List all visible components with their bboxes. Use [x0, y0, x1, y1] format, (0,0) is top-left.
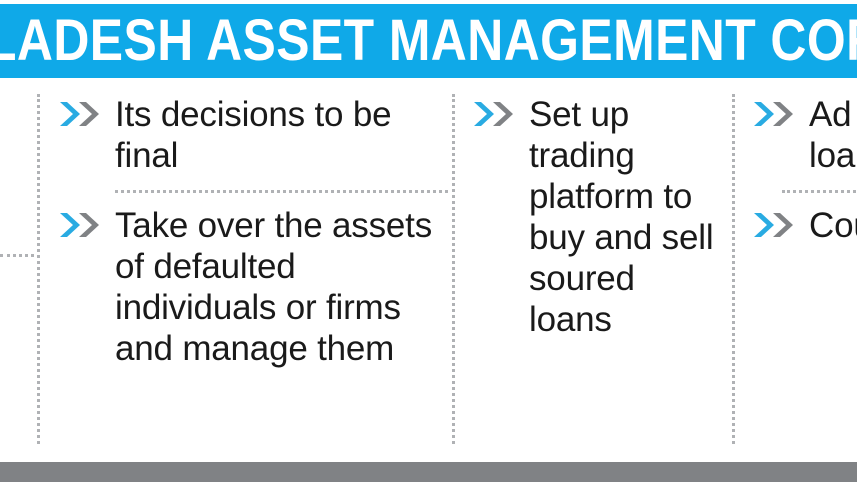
bullet-separator [782, 190, 857, 193]
column-divider-left [37, 94, 40, 444]
bullet-text: Set up trading platform to buy and sell … [529, 94, 722, 340]
infographic-graphic: LADESH ASSET MANAGEMENT CORPOR Its decis… [0, 0, 857, 482]
bullet-text: Cou bo [809, 205, 857, 246]
bullet-column-2: Set up trading platform to buy and sell … [472, 94, 722, 340]
column-divider-2-3 [732, 94, 735, 444]
bullet-item: Set up trading platform to buy and sell … [472, 94, 722, 340]
bullet-column-3: Ad to rec loa Cou bo [752, 94, 857, 246]
double-chevron-right-icon [58, 212, 104, 243]
double-chevron-right-icon [752, 101, 798, 132]
bullet-item: Take over the assets of defaulted indivi… [58, 205, 448, 369]
bullet-text: Ad to rec loa [809, 94, 857, 176]
bullet-text: Its decisions to be final [115, 94, 448, 176]
bullet-separator [115, 190, 448, 193]
bullet-text: Take over the assets of defaulted indivi… [115, 205, 448, 369]
double-chevron-right-icon [58, 101, 104, 132]
double-chevron-right-icon [472, 101, 518, 132]
page-title: LADESH ASSET MANAGEMENT CORPOR [0, 12, 857, 70]
bullet-item: Cou bo [752, 205, 857, 246]
bullet-column-1: Its decisions to be final Take over the … [58, 94, 448, 369]
content-area: Its decisions to be final Take over the … [0, 78, 857, 462]
header-band: LADESH ASSET MANAGEMENT CORPOR [0, 4, 857, 78]
bullet-item: Ad to rec loa [752, 94, 857, 176]
footer-bar [0, 462, 857, 482]
double-chevron-right-icon [752, 212, 798, 243]
cropped-column-separator [0, 254, 34, 257]
bullet-item: Its decisions to be final [58, 94, 448, 176]
column-divider-1-2 [452, 94, 455, 444]
